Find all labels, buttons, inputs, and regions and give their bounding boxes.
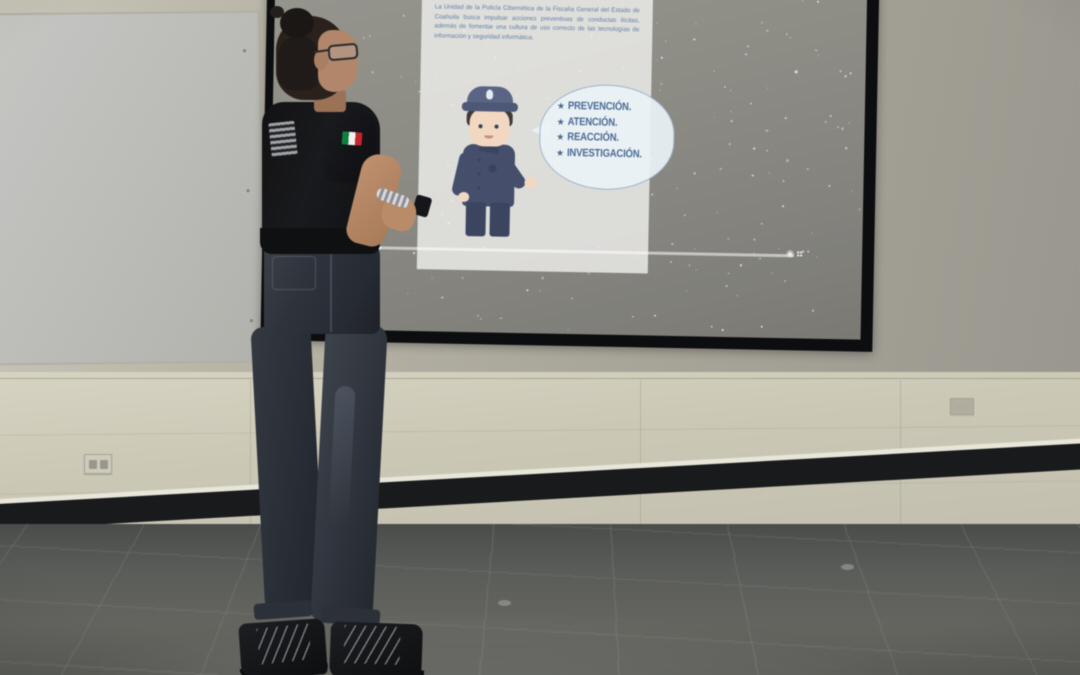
star-dot — [730, 90, 731, 91]
star-dot — [859, 209, 860, 210]
star-dot — [786, 159, 788, 161]
star-dot — [811, 232, 812, 233]
star-bullet-icon: ★ — [556, 133, 564, 142]
star-bullet-icon: ★ — [557, 117, 565, 126]
grid-dot — [800, 255, 802, 257]
officer-leg-right — [489, 202, 510, 236]
star-dot — [750, 103, 752, 105]
officer-leg-left — [465, 202, 486, 236]
star-dot — [730, 120, 732, 122]
star-dot — [745, 53, 747, 55]
star-dot — [694, 38, 696, 40]
outlet-socket — [955, 403, 963, 411]
star-dot — [841, 128, 843, 130]
presenter-person — [232, 6, 462, 675]
presentation-room-photo: QUIÉNES SOMOS La Unidad de la Policía Ci… — [0, 0, 1080, 675]
unit-emblem-patch — [268, 121, 297, 158]
speech-bubble: ★PREVENCIÓN.★ATENCIÓN.★REACCIÓN.★INVESTI… — [538, 83, 675, 191]
star-dot — [695, 23, 696, 24]
star-dot — [714, 71, 715, 72]
star-dot — [851, 190, 853, 192]
star-dot — [657, 22, 658, 23]
star-dot — [752, 175, 754, 177]
star-dot — [587, 272, 589, 274]
star-dot — [845, 76, 847, 78]
star-dot — [689, 265, 690, 266]
star-dot — [759, 258, 761, 260]
wall-outlet-left — [84, 454, 112, 474]
star-dot — [754, 239, 756, 241]
officer-cap-brim — [462, 102, 518, 112]
star-dot — [761, 223, 763, 225]
star-dot — [665, 41, 666, 42]
officer-button — [477, 186, 480, 189]
officer-hand-right — [524, 177, 537, 188]
star-dot — [786, 34, 788, 36]
star-dot — [722, 329, 724, 331]
presenter-hair-wisp — [270, 6, 284, 18]
star-dot — [848, 122, 849, 123]
floor-highlight — [0, 524, 1080, 675]
officer-cap-badge-icon — [486, 89, 493, 99]
officer-button — [478, 158, 481, 161]
slide-bullet-item: ★ATENCIÓN. — [557, 116, 675, 129]
star-dot — [724, 86, 726, 88]
star-dot — [656, 59, 657, 60]
star-dot — [737, 295, 738, 296]
star-dot — [730, 111, 732, 113]
outlet-socket — [89, 460, 97, 469]
play-pause-icon[interactable]: ◉ — [786, 249, 794, 258]
star-dot — [818, 55, 819, 56]
presenter-jeans-cuff — [254, 600, 313, 620]
jeans-pocket — [272, 256, 316, 290]
wall-seam — [0, 378, 1080, 379]
star-dot — [790, 37, 792, 39]
star-dot — [500, 317, 501, 318]
star-dot — [711, 326, 713, 328]
star-dot — [817, 0, 819, 2]
star-dot — [768, 172, 770, 174]
star-dot — [660, 82, 662, 84]
grey-tile-floor — [0, 524, 1080, 675]
star-dot — [767, 88, 768, 89]
star-dot — [728, 273, 729, 274]
star-dot — [542, 277, 544, 279]
presenter-hair — [278, 36, 318, 90]
star-dot — [802, 0, 803, 1]
slide-bullet-label: REACCIÓN. — [567, 132, 619, 144]
star-dot — [837, 126, 838, 127]
star-dot — [782, 180, 784, 182]
presenter-ear — [314, 50, 328, 70]
slide-paragraph-text: La Unidad de la Policía Cibernética de l… — [434, 2, 640, 44]
glasses-icon — [327, 43, 358, 62]
star-dot — [672, 243, 674, 245]
star-dot — [812, 310, 814, 312]
officer-face — [469, 108, 510, 147]
slide-bullet-label: PREVENCIÓN. — [568, 101, 631, 113]
star-dot — [761, 22, 763, 24]
star-dot — [480, 318, 481, 319]
presentation-controls[interactable]: ◉ — [786, 249, 803, 258]
outlet-socket — [100, 460, 108, 469]
star-dot — [651, 193, 653, 195]
star-dot — [766, 150, 768, 152]
star-dot — [767, 30, 769, 32]
wall-outlet-right — [950, 398, 974, 415]
star-dot — [654, 314, 656, 316]
star-dot — [660, 89, 661, 90]
star-dot — [782, 206, 784, 208]
star-dot — [713, 117, 715, 119]
star-dot — [807, 169, 808, 170]
star-bullet-icon: ★ — [556, 148, 564, 157]
star-dot — [795, 71, 797, 73]
star-dot — [766, 129, 768, 131]
grid-view-icon[interactable] — [797, 251, 803, 257]
star-dot — [670, 261, 672, 263]
floor-debris — [498, 600, 511, 606]
slide-bullet-list: ★PREVENCIÓN.★ATENCIÓN.★REACCIÓN.★INVESTI… — [556, 101, 675, 161]
officer-button — [478, 172, 481, 175]
star-dot — [807, 251, 809, 253]
star-dot — [830, 115, 832, 117]
star-dot — [725, 285, 727, 287]
star-dot — [815, 50, 816, 51]
star-dot — [778, 248, 779, 249]
star-dot — [477, 315, 478, 316]
star-dot — [740, 265, 741, 266]
star-dot — [720, 168, 722, 170]
star-dot — [761, 326, 763, 328]
floor-debris — [841, 564, 854, 570]
star-dot — [840, 70, 842, 72]
slide-bullet-item: ★REACCIÓN. — [556, 132, 674, 145]
grid-dot — [797, 255, 799, 257]
star-dot — [632, 316, 633, 317]
star-dot — [539, 290, 541, 292]
star-dot — [572, 298, 573, 299]
star-dot — [676, 188, 677, 189]
star-dot — [747, 45, 749, 47]
star-dot — [824, 121, 826, 123]
wall-mounted-whiteboard — [0, 11, 264, 366]
star-dot — [785, 280, 786, 281]
slide-bullet-item: ★INVESTIGACIÓN. — [556, 147, 674, 160]
star-dot — [849, 72, 851, 74]
jeans-seam — [330, 246, 332, 332]
star-bullet-icon: ★ — [557, 102, 565, 111]
star-dot — [661, 56, 663, 58]
star-dot — [772, 272, 773, 273]
star-dot — [696, 270, 697, 271]
boot-laces — [343, 625, 400, 665]
star-dot — [729, 143, 731, 145]
officer-eye — [478, 124, 482, 128]
presenter-hair-bun — [280, 8, 314, 38]
officer-eye — [494, 125, 498, 129]
slide-bullet-item: ★PREVENCIÓN. — [557, 101, 675, 114]
star-dot — [828, 185, 830, 187]
star-dot — [753, 147, 755, 149]
star-dot — [727, 238, 729, 240]
star-dot — [717, 212, 719, 214]
mexican-flag-patch — [342, 131, 363, 145]
slide-bullet-label: INVESTIGACIÓN. — [567, 147, 642, 159]
grid-dot — [797, 251, 799, 253]
star-dot — [683, 214, 685, 216]
star-dot — [816, 256, 817, 257]
star-dot — [695, 248, 696, 249]
star-dot — [526, 289, 528, 291]
star-dot — [845, 147, 847, 149]
wall-seam-vertical — [640, 380, 641, 530]
star-dot — [785, 118, 787, 120]
grid-dot — [801, 251, 803, 253]
boot-laces — [256, 623, 311, 664]
outlet-socket — [963, 403, 971, 411]
star-dot — [694, 173, 696, 175]
star-dot — [686, 291, 687, 292]
star-dot — [568, 329, 569, 330]
slide-bullet-label: ATENCIÓN. — [568, 116, 618, 128]
